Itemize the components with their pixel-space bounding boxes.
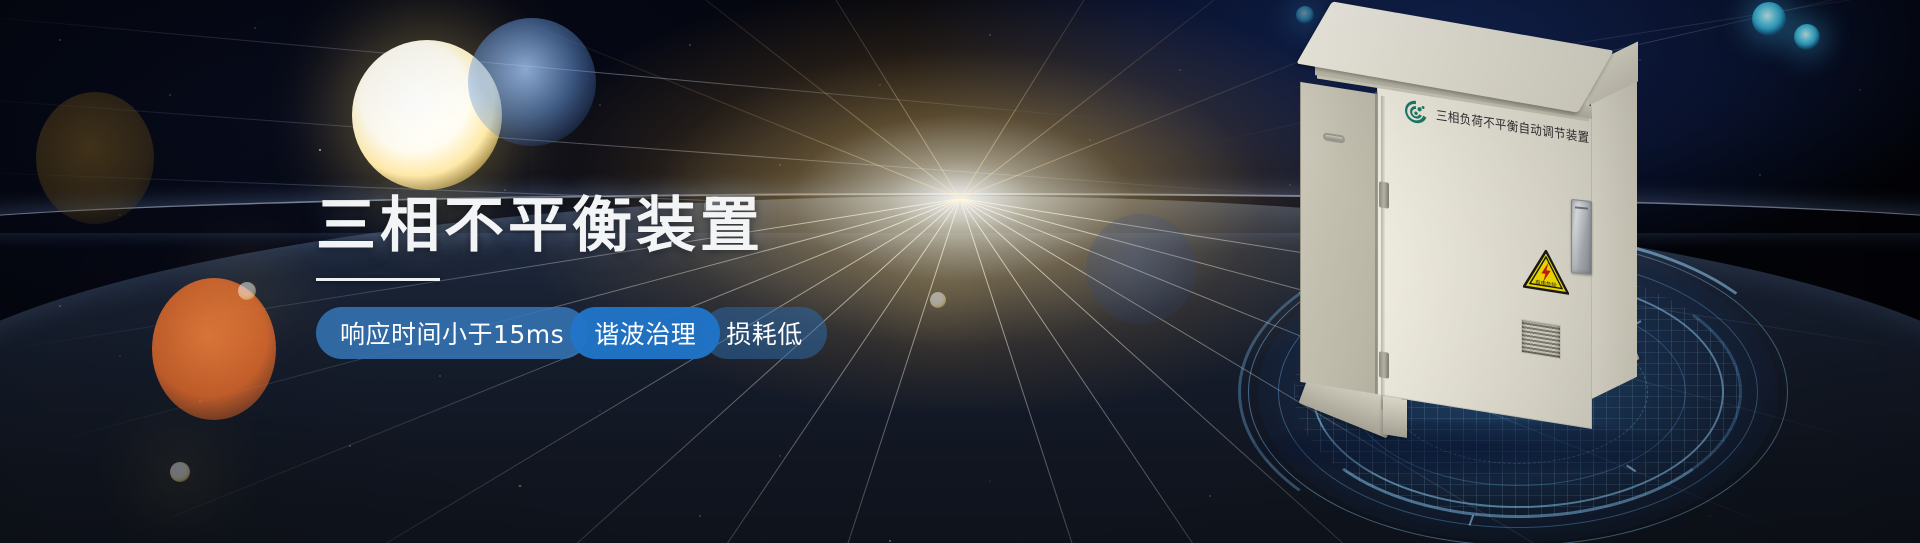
banner-copy: 三相不平衡装置 响应时间小于15ms 谐波治理 损耗低 — [316, 196, 1016, 359]
tag-low-loss[interactable]: 损耗低 — [702, 307, 827, 359]
company-logo-icon — [1403, 97, 1429, 127]
cabinet-side-panel — [1300, 82, 1378, 394]
grid-node-glow — [238, 282, 256, 300]
cabinet-hinge — [1379, 181, 1389, 209]
cabinet-edge-seam — [1375, 92, 1378, 394]
bokeh-orb-amber — [36, 92, 154, 224]
vent-grille-icon — [1521, 319, 1561, 359]
door-handle-icon — [1571, 199, 1592, 275]
cabinet-foot — [1383, 396, 1407, 438]
grid-node-glow — [170, 462, 190, 482]
electric-hazard-icon: 有电危险 — [1523, 246, 1569, 295]
bokeh-orb-orange — [152, 278, 276, 420]
feature-tag-list: 响应时间小于15ms 谐波治理 损耗低 — [316, 307, 1016, 359]
page-title: 三相不平衡装置 — [316, 196, 1016, 256]
bokeh-orb-teal — [1752, 2, 1786, 36]
product-cabinet: 三相负荷不平衡自动调节装置 有电危险 — [1295, 22, 1715, 442]
cabinet-hinge — [1379, 351, 1389, 379]
bokeh-orb-navy — [1086, 214, 1196, 324]
tag-harmonic-control[interactable]: 谐波治理 — [570, 307, 720, 359]
hero-banner: 三相负荷不平衡自动调节装置 有电危险 三相不平衡装置 响应时间小于15ms 谐波… — [0, 0, 1920, 543]
bokeh-orb-blue — [468, 18, 596, 146]
bokeh-orb-teal — [1794, 24, 1820, 50]
tag-response-time[interactable]: 响应时间小于15ms — [316, 307, 588, 359]
title-divider — [316, 278, 440, 281]
